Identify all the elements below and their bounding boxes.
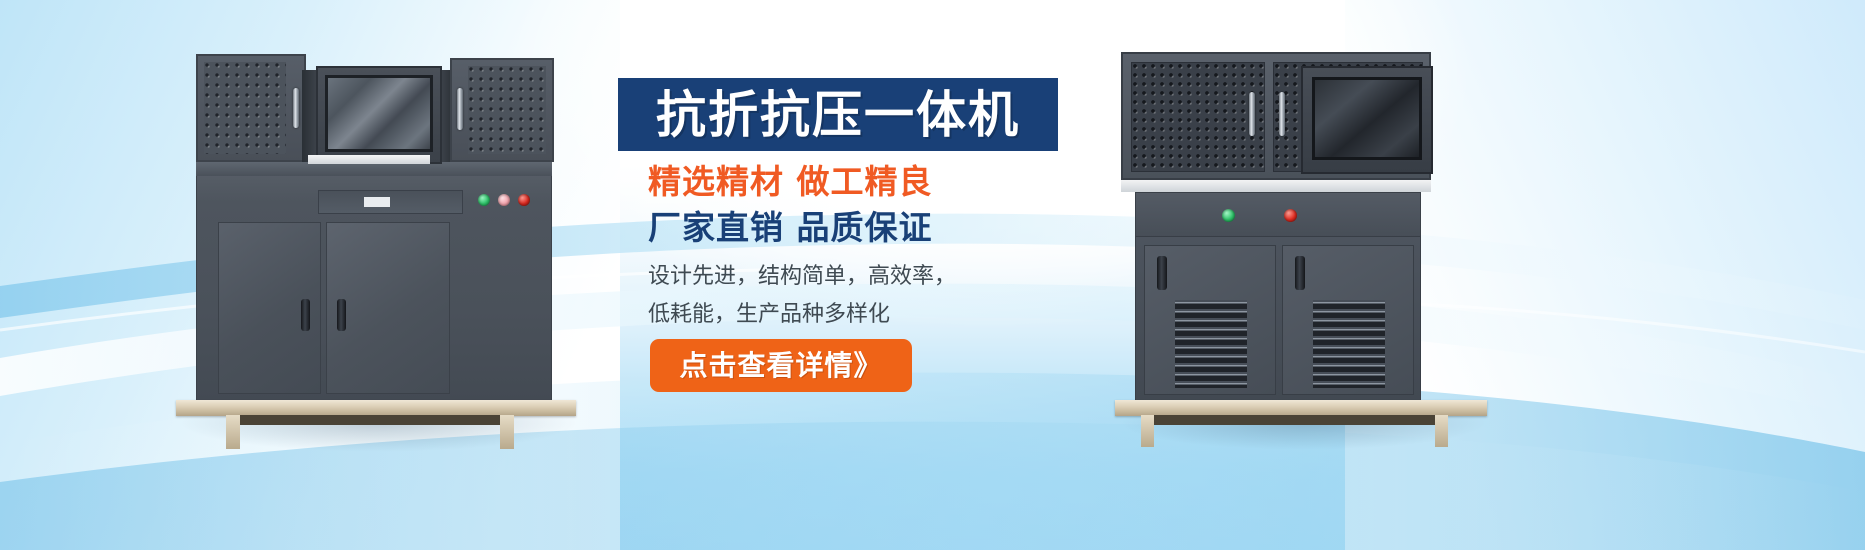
view-details-button[interactable]: 点击查看详情》 (650, 339, 912, 392)
perforated-panel (204, 62, 286, 154)
machine-right-monitor-housing (1301, 66, 1433, 174)
machine-left-perforated-cabinet-right (450, 58, 554, 162)
machine-left-lower-door-left (218, 222, 321, 394)
description-line-1: 设计先进，结构简单，高效率， (648, 258, 1128, 296)
machine-right-display-screen (1312, 77, 1422, 160)
wooden-pallet-right (1115, 400, 1487, 416)
slogan-line-1: 精选精材 做工精良 (648, 160, 1128, 204)
machine-right-lower-cabinet (1135, 236, 1421, 402)
machine-right-white-strip (1121, 180, 1431, 192)
machine-right-lower-door-right (1282, 245, 1414, 395)
machine-left-lower-door-right (326, 222, 450, 394)
cabinet-handle-icon (293, 88, 299, 128)
perforated-panel (468, 66, 546, 154)
slogan-line-2: 厂家直销 品质保证 (648, 204, 1128, 252)
machine-left-control-slot (318, 190, 463, 214)
marketing-copy: 精选精材 做工精良 厂家直销 品质保证 设计先进，结构简单，高效率， 低耗能，生… (648, 160, 1128, 334)
pallet-gap (240, 415, 500, 425)
ventilation-louvers (1313, 300, 1385, 388)
pink-indicator-light (498, 194, 510, 206)
machine-left-white-strip (308, 155, 430, 164)
description-line-2: 低耗能，生产品种多样化 (648, 296, 1128, 334)
product-image-left (168, 44, 588, 434)
machine-left-monitor-housing (316, 66, 442, 164)
view-details-button-label: 点击查看详情》 (679, 352, 882, 380)
red-indicator-light (1284, 209, 1297, 222)
headline-band: 抗折抗压一体机 (618, 78, 1058, 151)
cabinet-handle-icon (457, 88, 463, 130)
machine-right-lower-door-left (1144, 245, 1276, 395)
description-block: 设计先进，结构简单，高效率， 低耗能，生产品种多样化 (648, 258, 1128, 334)
cabinet-handle-icon (1249, 92, 1255, 136)
machine-right-control-band (1135, 192, 1421, 238)
pallet-leg (500, 415, 514, 449)
door-handle-icon (301, 299, 310, 331)
page-title: 抗折抗压一体机 (656, 90, 1020, 140)
machine-left-display-screen (325, 75, 433, 152)
machine-left-perforated-cabinet-left (196, 54, 306, 162)
product-image-right (1105, 38, 1505, 438)
pallet-leg (1141, 415, 1154, 447)
wooden-pallet-left (176, 400, 576, 416)
red-indicator-light (518, 194, 530, 206)
perforated-panel (1131, 62, 1265, 172)
machine-left-nameplate (364, 197, 390, 207)
ventilation-louvers (1175, 300, 1247, 388)
pallet-leg (226, 415, 240, 449)
door-handle-icon (1157, 256, 1167, 290)
cabinet-handle-icon (1279, 92, 1285, 136)
green-indicator-light (1222, 209, 1235, 222)
pallet-gap (1154, 415, 1435, 425)
promo-banner: 抗折抗压一体机 精选精材 做工精良 厂家直销 品质保证 设计先进，结构简单，高效… (0, 0, 1865, 550)
door-handle-icon (337, 299, 346, 331)
door-handle-icon (1295, 256, 1305, 290)
pallet-leg (1435, 415, 1448, 447)
green-indicator-light (478, 194, 490, 206)
